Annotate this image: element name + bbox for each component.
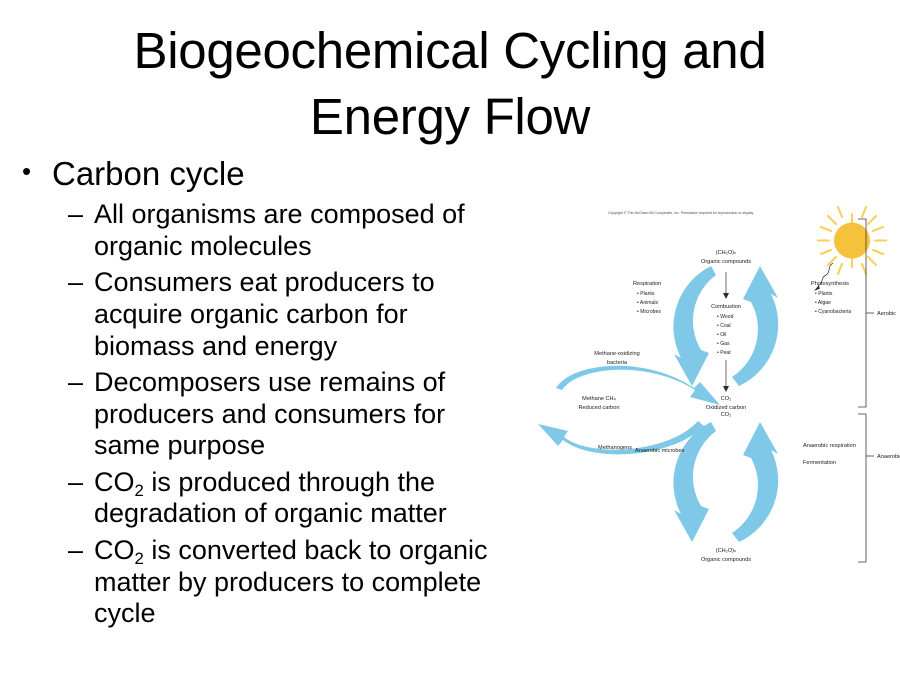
label-organic-compounds-bottom-name: Organic compounds [701, 557, 751, 563]
label-combustion-item-0: • Wood [717, 314, 734, 320]
bullet-level2-decomposers: – Decomposers use remains of producers a… [22, 367, 582, 462]
anaerobic-respiration-arrow [732, 422, 778, 542]
label-methane-formula: Methane CH₄ [582, 396, 616, 402]
slide-canvas: Biogeochemical Cycling and Energy Flow •… [0, 0, 900, 675]
bullet-text-post: is converted back to organic matter by p… [94, 535, 488, 628]
sun-icon [818, 207, 886, 274]
label-methane-reduced-carbon: Reduced carbon [578, 405, 619, 411]
label-co2-oxidized-name: Oxidized carbon [706, 405, 746, 411]
copyright-notice: Copyright © The McGraw-Hill Companies, I… [608, 211, 754, 215]
label-combustion-item-3: • Gas [717, 341, 730, 347]
label-combustion-item-1: • Coal [717, 323, 731, 329]
bullet-text: Consumers eat producers to acquire organ… [94, 267, 514, 362]
photosynthesis-arrow [732, 266, 778, 386]
label-methanogens: Methanogens [598, 445, 632, 451]
label-respiration-group: Respiration • Plants • Animals • Microbe… [633, 281, 661, 315]
carbon-cycle-diagram: .dlab{font-family:"Liberation Sans","Dej… [520, 200, 900, 565]
label-respiration-title: Respiration [633, 281, 661, 287]
bullet-text-pre: CO [94, 467, 135, 497]
bullet-text: Carbon cycle [52, 155, 582, 193]
bullet-text: CO2 is converted back to organic matter … [94, 535, 514, 630]
label-organic-compounds-top-name: Organic compounds [701, 259, 751, 265]
label-respiration-item-0: • Plants [637, 291, 655, 297]
label-bracket-aerobic: Aerobic [877, 311, 896, 317]
bullet-text-pre: CO [94, 535, 135, 565]
bullet-text: Decomposers use remains of producers and… [94, 367, 514, 462]
label-methane-oxidizing-bacteria-line2: bacteria [607, 360, 628, 366]
label-organic-compounds-bottom-formula: (CH₂O)ₙ [716, 548, 737, 554]
label-organic-compounds-top-formula: (CH₂O)ₙ [716, 250, 737, 256]
bullet-marker-icon: • [22, 155, 52, 189]
label-methane-oxidizing-bacteria-line1: Methane-oxidizing [594, 351, 639, 357]
label-bracket-anaerobic: Anaerobic [877, 454, 900, 460]
bullet-text-subscript: 2 [135, 549, 144, 568]
label-combustion-title: Combustion [711, 304, 741, 310]
label-co2-oxidized-formula: CO₂ [721, 396, 732, 402]
label-photosynthesis-item-1: • Algae [815, 300, 831, 306]
label-photosynthesis-title: Photosynthesis [811, 281, 849, 287]
label-fermentation: Fermentation [803, 460, 836, 466]
bullet-level2-consumers: – Consumers eat producers to acquire org… [22, 267, 582, 362]
dash-marker-icon: – [68, 535, 94, 567]
bullet-list: • Carbon cycle – All organisms are compo… [22, 155, 582, 635]
respiration-arrow [673, 266, 716, 386]
dash-marker-icon: – [68, 467, 94, 499]
page-title-line-2: Energy Flow [0, 84, 900, 150]
label-combustion-group: Combustion • Wood • Coal • Oil • Gas • P… [711, 304, 741, 356]
bullet-text-subscript: 2 [135, 481, 144, 500]
bullet-level2-organisms: – All organisms are composed of organic … [22, 199, 582, 262]
label-co2-lower: CO₂ [721, 412, 732, 418]
dash-marker-icon: – [68, 367, 94, 399]
label-anaerobic-respiration: Anaerobic respiration [803, 443, 856, 449]
bracket-anaerobic: Anaerobic [858, 414, 900, 562]
label-combustion-item-2: • Oil [717, 332, 726, 338]
label-photosynthesis-item-0: • Plants [815, 291, 833, 297]
bullet-text-post: is produced through the degradation of o… [94, 467, 447, 529]
bullet-level2-co2-converted: – CO2 is converted back to organic matte… [22, 535, 582, 630]
organic-to-combustion-arrow [723, 272, 729, 299]
dash-marker-icon: – [68, 199, 94, 231]
bullet-text: CO2 is produced through the degradation … [94, 467, 514, 530]
label-photosynthesis-group: Photosynthesis • Plants • Algae • Cyanob… [811, 281, 851, 315]
bullet-level1-carbon-cycle: • Carbon cycle [22, 155, 582, 193]
combustion-to-co2-arrow [723, 360, 729, 392]
label-anaerobic-microbes: Anaerobic microbes [635, 448, 685, 454]
bullet-text: All organisms are composed of organic mo… [94, 199, 514, 262]
label-combustion-item-4: • Peat [717, 350, 731, 356]
bullet-level2-co2-produced: – CO2 is produced through the degradatio… [22, 467, 582, 530]
page-title-line-1: Biogeochemical Cycling and [0, 18, 900, 84]
label-respiration-item-1: • Animals [637, 300, 658, 306]
label-respiration-item-2: • Microbes [637, 309, 661, 315]
page-title: Biogeochemical Cycling and Energy Flow [0, 18, 900, 151]
dash-marker-icon: – [68, 267, 94, 299]
label-photosynthesis-item-2: • Cyanobacteria [815, 309, 851, 315]
